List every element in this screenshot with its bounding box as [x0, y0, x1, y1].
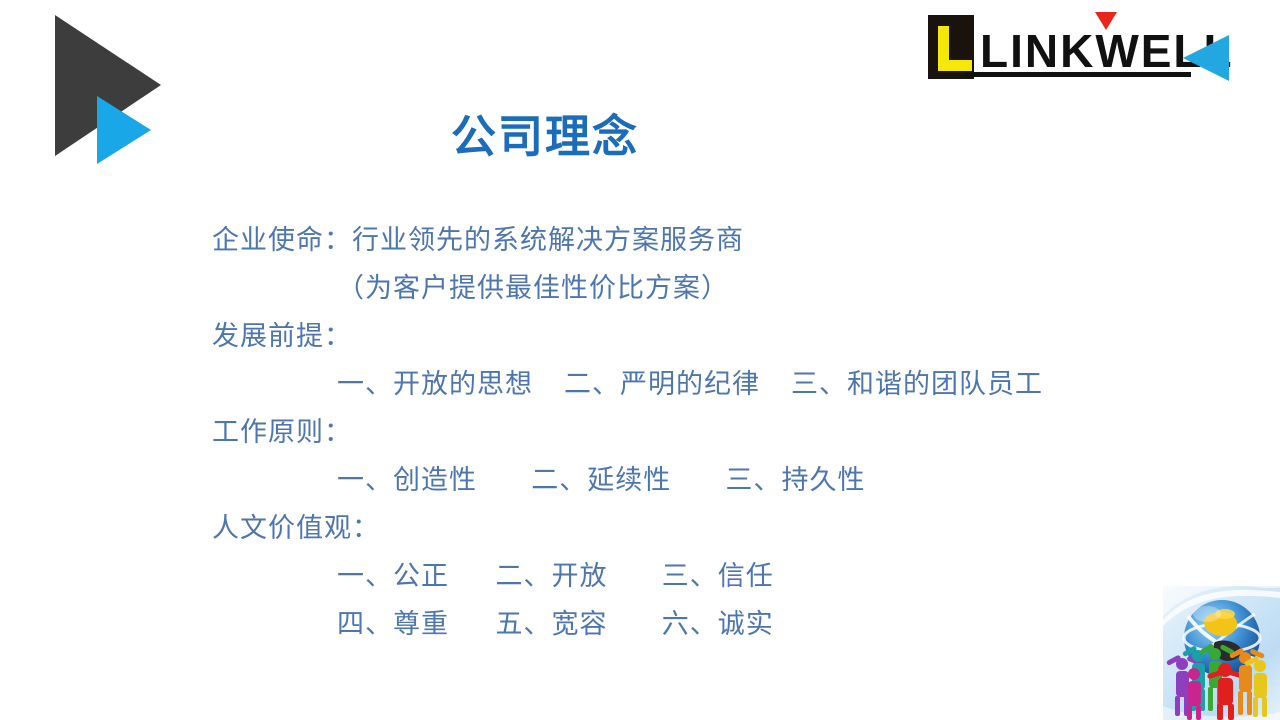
company-logo: LINKWELL [925, 10, 1235, 90]
slide-canvas: LINKWELL 公司理念 企业使命：行业领先的系统解决方案服务商 （为客户提供… [0, 0, 1280, 720]
body-line: 一、公正 二、开放 三、信任 [212, 552, 1212, 600]
body-line: 企业使命：行业领先的系统解决方案服务商 [212, 216, 1212, 264]
logo-underline [965, 72, 1191, 77]
logo-letter-l-icon [938, 26, 972, 71]
body-line: 发展前提： [212, 312, 1212, 360]
body-line: 工作原则： [212, 408, 1212, 456]
body-line: 人文价值观： [212, 504, 1212, 552]
teamwork-globe-image [1163, 586, 1280, 720]
body-line: 一、创造性 二、延续性 三、持久性 [212, 456, 1212, 504]
body-line: 一、开放的思想 二、严明的纪律 三、和谐的团队员工 [212, 360, 1212, 408]
page-title: 公司理念 [0, 108, 1090, 166]
body-line: （为客户提供最佳性价比方案） [212, 264, 1212, 312]
logo-blue-triangle-icon [1183, 35, 1229, 81]
content-body: 企业使命：行业领先的系统解决方案服务商 （为客户提供最佳性价比方案） 发展前提：… [212, 216, 1212, 648]
body-line: 四、尊重 五、宽容 六、诚实 [212, 600, 1212, 648]
